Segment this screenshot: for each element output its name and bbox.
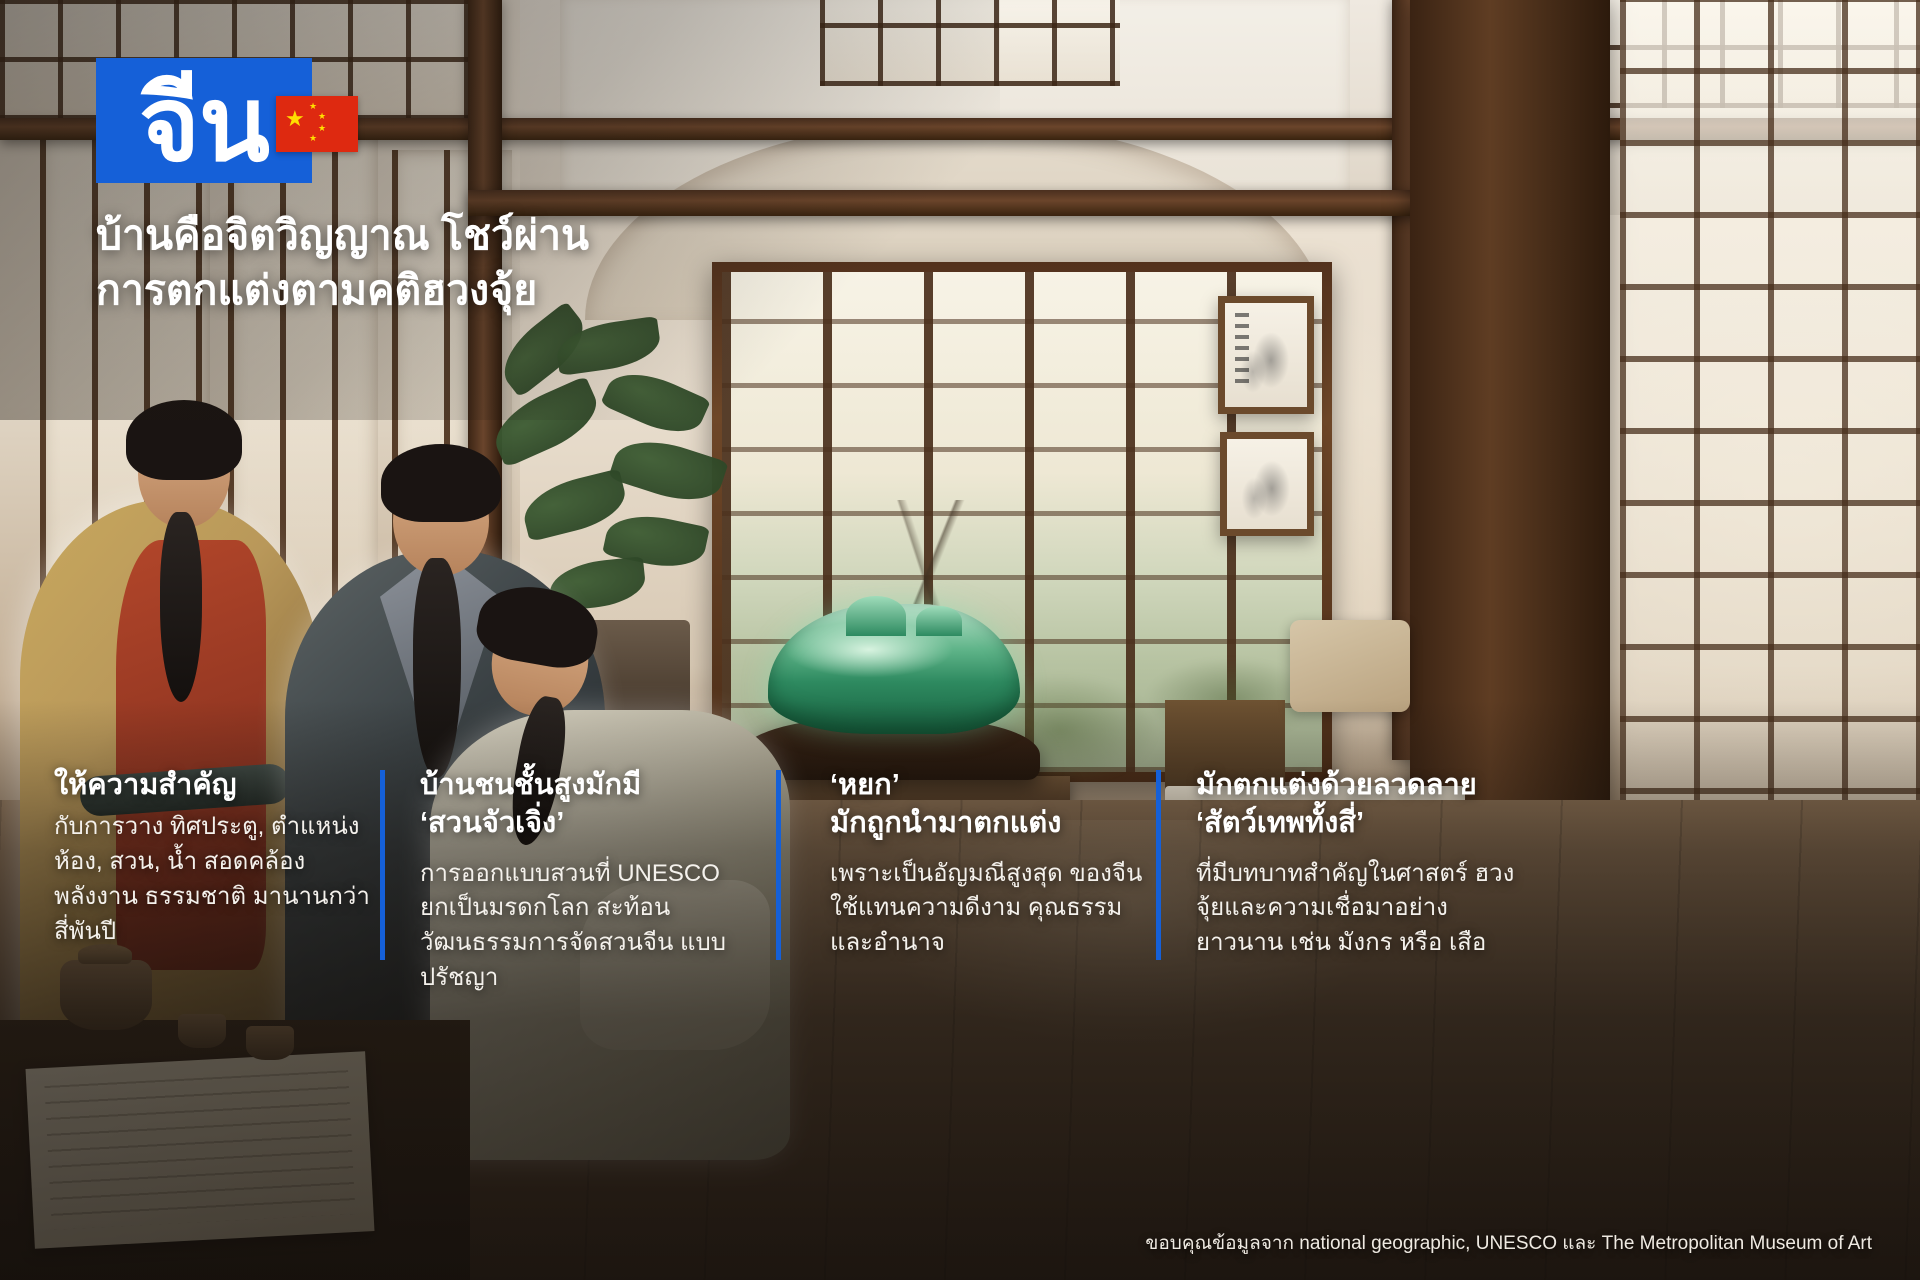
- plant-leaf: [600, 360, 711, 445]
- headline-line-1: บ้านคือจิตวิญญาณ โชว์ผ่าน: [96, 208, 856, 263]
- fact-body: เพราะเป็นอัญมณีสูงสุด ของจีน ใช้แทนความด…: [830, 849, 1160, 961]
- fact-column-2: บ้านชนชั้นสูงมักมี‘สวนจัวเจิ่ง’ การออกแบ…: [420, 766, 776, 996]
- fact-column-4: มักตกแต่งด้วยลวดลาย‘สัตว์เทพทั้งสี่’ ที่…: [1196, 766, 1552, 961]
- fact-body: การออกแบบสวนที่ UNESCO ยกเป็นมรดกโลก สะท…: [420, 849, 750, 996]
- fact-column-1: ให้ความสำคัญ กับการวาง ทิศประตู, ตำแหน่ง…: [54, 766, 410, 949]
- headline: บ้านคือจิตวิญญาณ โชว์ผ่าน การตกแต่งตามคต…: [96, 208, 856, 318]
- cushion: [1290, 620, 1410, 712]
- hair: [381, 444, 501, 522]
- top-lattice-center: [820, 0, 1120, 86]
- fact-column-3: ‘หยก’มักถูกนำมาตกแต่ง เพราะเป็นอัญมณีสูง…: [830, 766, 1186, 961]
- ink-painting-2: [1227, 439, 1307, 529]
- calligraphy-marks: [1235, 313, 1249, 383]
- source-credit: ขอบคุณข้อมูลจาก national geographic, UNE…: [1145, 1228, 1872, 1258]
- fact-title: ให้ความสำคัญ: [54, 766, 410, 804]
- jade-peak: [846, 596, 906, 636]
- flag-star-large: ★: [285, 108, 305, 130]
- column-divider: [776, 770, 781, 960]
- flag-star-small: ★: [309, 134, 317, 143]
- flag-star-small: ★: [318, 112, 326, 121]
- framed-artwork-bottom: [1220, 432, 1314, 536]
- framed-artwork-top: [1218, 296, 1314, 414]
- fact-title: ‘หยก’มักถูกนำมาตกแต่ง: [830, 766, 1186, 843]
- country-label: จีน: [139, 73, 269, 177]
- jade-peak: [916, 606, 962, 636]
- headline-line-2: การตกแต่งตามคติฮวงจุ้ย: [96, 263, 856, 318]
- fact-title: บ้านชนชั้นสูงมักมี‘สวนจัวเจิ่ง’: [420, 766, 776, 843]
- flag-star-small: ★: [318, 124, 326, 133]
- china-flag-icon: ★ ★ ★ ★ ★: [276, 96, 358, 152]
- fact-body: กับการวาง ทิศประตู, ตำแหน่งห้อง, สวน, น้…: [54, 810, 384, 949]
- infographic-canvas: จีน ★ ★ ★ ★ ★ บ้านคือจิตวิญญาณ โชว์ผ่าน …: [0, 0, 1920, 1280]
- fact-body: ที่มีบทบาทสำคัญในศาสตร์ ฮวงจุ้ยและความเช…: [1196, 849, 1526, 961]
- flag-star-small: ★: [309, 102, 317, 111]
- fact-title: มักตกแต่งด้วยลวดลาย‘สัตว์เทพทั้งสี่’: [1196, 766, 1552, 843]
- plant-leaf: [608, 429, 729, 512]
- beard: [160, 512, 202, 702]
- fact-columns: ให้ความสำคัญ กับการวาง ทิศประตู, ตำแหน่ง…: [0, 766, 1920, 1226]
- hair: [126, 400, 242, 480]
